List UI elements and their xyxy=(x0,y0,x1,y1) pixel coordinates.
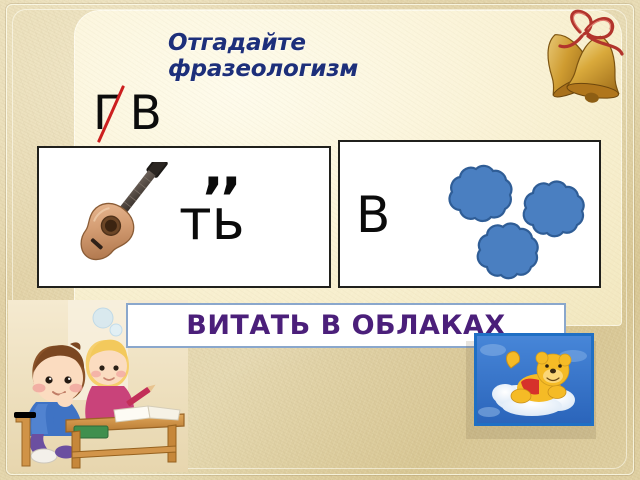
letter-substitution: ГВ xyxy=(92,90,169,137)
struck-letter: Г xyxy=(92,90,130,137)
rebus-box-right: В xyxy=(338,140,601,288)
replacement-letter: В xyxy=(130,86,169,141)
clouds-icon xyxy=(428,150,600,282)
winnie-the-pooh-image xyxy=(474,333,594,426)
page-title-line2: фразеологизм xyxy=(168,56,468,82)
page-title-line1: Отгадайте xyxy=(168,30,468,56)
guitar-icon xyxy=(49,162,199,280)
preposition-letter: В xyxy=(356,190,390,240)
slide-canvas: Отгадайте фразеологизм ГВ xyxy=(0,0,640,480)
answer-text: ВИТАТЬ В ОБЛАКАХ xyxy=(186,310,506,341)
word-fragment: ть xyxy=(179,193,245,249)
rebus-box-left: ’’ ть xyxy=(37,146,331,288)
page-title: Отгадайте фразеологизм xyxy=(168,30,468,82)
school-bells-icon xyxy=(534,2,632,114)
